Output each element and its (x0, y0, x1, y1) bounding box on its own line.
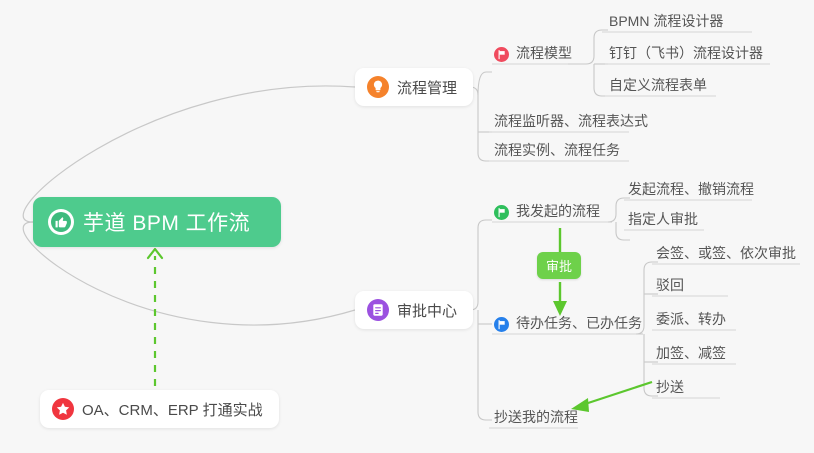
edge-to-process-model (478, 72, 492, 95)
flag-icon (494, 317, 509, 332)
node-my-started-process-label: 我发起的流程 (516, 202, 600, 220)
node-cc-my-process[interactable]: 抄送我的流程 (490, 408, 588, 430)
root-node[interactable]: 芋道 BPM 工作流 (33, 197, 281, 247)
cc-arrow-stem (582, 382, 652, 405)
star-icon (52, 398, 74, 420)
node-approval-center[interactable]: 审批中心 (355, 291, 473, 329)
node-process-management-label: 流程管理 (397, 77, 457, 98)
node-countersign-label: 会签、或签、依次审批 (656, 244, 796, 262)
node-custom-process-form-label: 自定义流程表单 (609, 76, 707, 94)
node-cc-my-process-label: 抄送我的流程 (494, 408, 578, 426)
node-add-remove-sign[interactable]: 加签、减签 (652, 344, 736, 366)
approval-annotation-badge[interactable]: 审批 (537, 252, 581, 279)
node-bpmn-designer-label: BPMN 流程设计器 (609, 12, 723, 30)
node-todo-done-tasks-label: 待办任务、已办任务 (516, 314, 642, 332)
node-cc[interactable]: 抄送 (652, 378, 694, 400)
node-bpmn-designer[interactable]: BPMN 流程设计器 (605, 12, 733, 34)
node-assignee-approval-label: 指定人审批 (628, 210, 698, 228)
node-process-instance[interactable]: 流程实例、流程任务 (490, 141, 630, 163)
node-reject-label: 驳回 (656, 276, 684, 294)
mindmap-canvas: 芋道 BPM 工作流 流程管理 流程模型 BPMN 流程设计器 钉钉（飞书）流程… (0, 0, 814, 453)
node-process-model-label: 流程模型 (516, 44, 572, 62)
node-process-instance-label: 流程实例、流程任务 (494, 141, 620, 159)
root-node-label: 芋道 BPM 工作流 (83, 207, 250, 237)
node-dingtalk-designer-label: 钉钉（飞书）流程设计器 (609, 44, 763, 62)
node-process-listener[interactable]: 流程监听器、流程表达式 (490, 112, 658, 134)
node-process-listener-label: 流程监听器、流程表达式 (494, 112, 648, 130)
approval-annotation-label: 审批 (546, 259, 572, 274)
node-delegate-transfer-label: 委派、转办 (656, 310, 726, 328)
node-reject[interactable]: 驳回 (652, 276, 694, 298)
node-assignee-approval[interactable]: 指定人审批 (624, 210, 708, 232)
oa-arrowhead (148, 249, 162, 258)
node-process-model[interactable]: 流程模型 (492, 44, 582, 66)
node-my-started-process[interactable]: 我发起的流程 (492, 202, 610, 224)
node-approval-center-label: 审批中心 (397, 300, 457, 321)
node-oa-crm-erp[interactable]: OA、CRM、ERP 打通实战 (40, 390, 279, 428)
node-cc-label: 抄送 (656, 378, 684, 396)
node-start-cancel-process-label: 发起流程、撤销流程 (628, 180, 754, 198)
document-icon (367, 299, 389, 321)
edge-approval-center-trunk-down (478, 310, 492, 420)
node-custom-process-form[interactable]: 自定义流程表单 (605, 76, 717, 98)
thumbs-up-icon (48, 209, 74, 235)
node-add-remove-sign-label: 加签、减签 (656, 344, 726, 362)
node-process-management[interactable]: 流程管理 (355, 68, 473, 106)
node-delegate-transfer[interactable]: 委派、转办 (652, 310, 736, 332)
node-oa-crm-erp-label: OA、CRM、ERP 打通实战 (82, 399, 263, 420)
flag-icon (494, 205, 509, 220)
node-countersign[interactable]: 会签、或签、依次审批 (652, 244, 806, 266)
node-dingtalk-designer[interactable]: 钉钉（飞书）流程设计器 (605, 44, 773, 66)
node-todo-done-tasks[interactable]: 待办任务、已办任务 (492, 314, 652, 336)
node-start-cancel-process[interactable]: 发起流程、撤销流程 (624, 180, 764, 202)
lightbulb-icon (367, 76, 389, 98)
flag-icon (494, 47, 509, 62)
